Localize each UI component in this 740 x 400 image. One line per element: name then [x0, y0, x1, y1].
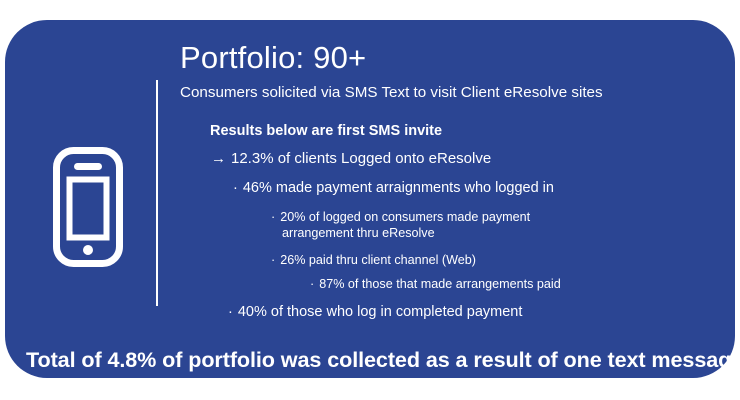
bullet-icon: · — [228, 304, 233, 321]
header-block: Portfolio: 90+ Consumers solicited via S… — [180, 39, 725, 103]
results-list: Results below are first SMS invite →12.3… — [180, 121, 725, 321]
infographic-card: Portfolio: 90+ Consumers solicited via S… — [5, 20, 735, 378]
result-item-2: ·46% made payment arraignments who logge… — [180, 180, 725, 197]
mobile-phone-icon — [52, 146, 124, 268]
bullet-icon: · — [310, 276, 314, 293]
result-item-3-label: 20% of logged on consumers made payment — [280, 210, 530, 224]
page-subtitle: Consumers solicited via SMS Text to visi… — [180, 83, 725, 103]
result-item-6-label: 40% of those who log in completed paymen… — [238, 304, 523, 320]
result-item-5-label: 87% of those that made arrangements paid — [319, 277, 561, 291]
result-item-1: →12.3% of clients Logged onto eResolve — [180, 150, 725, 167]
bullet-icon: · — [271, 252, 275, 269]
arrow-right-icon: → — [211, 150, 226, 167]
result-item-4: ·26% paid thru client channel (Web) — [180, 252, 725, 269]
result-item-3-label-wrap: arrangement thru eResolve — [271, 226, 725, 242]
page-title: Portfolio: 90+ — [180, 39, 725, 77]
result-item-3: ·20% of logged on consumers made payment… — [180, 210, 725, 241]
result-item-1-label: 12.3% of clients Logged onto eResolve — [231, 150, 491, 167]
bullet-icon: · — [271, 210, 275, 226]
results-heading: Results below are first SMS invite — [180, 121, 725, 141]
result-item-6: ·40% of those who log in completed payme… — [180, 304, 725, 321]
summary-banner: Total of 4.8% of portfolio was collected… — [26, 346, 726, 374]
result-item-5: ·87% of those that made arrangements pai… — [180, 276, 725, 293]
vertical-divider — [156, 80, 158, 306]
result-item-2-label: 46% made payment arraignments who logged… — [243, 180, 554, 196]
bullet-icon: · — [233, 180, 238, 197]
result-item-4-label: 26% paid thru client channel (Web) — [280, 253, 476, 267]
